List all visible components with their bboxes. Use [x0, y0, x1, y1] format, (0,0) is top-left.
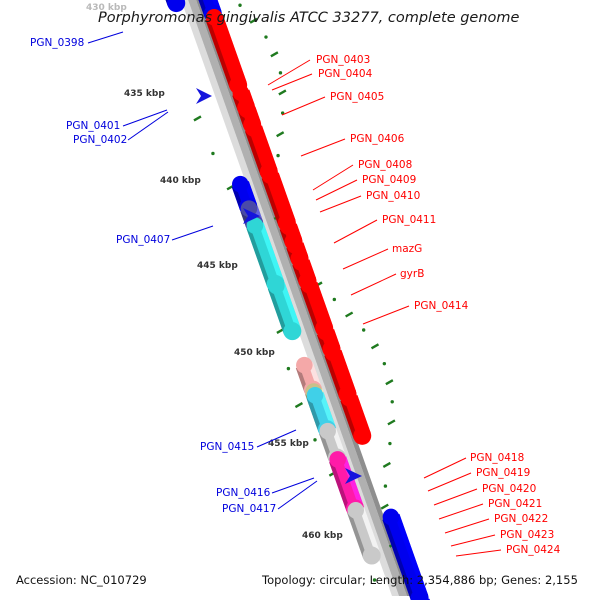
gene-cap	[293, 254, 310, 271]
leader-line	[128, 112, 168, 140]
gene-label-reverse[interactable]: PGN_0416	[216, 487, 271, 499]
strand-tick	[271, 52, 278, 56]
gene-label-forward[interactable]: PGN_0405	[330, 91, 384, 103]
leader-line	[343, 249, 388, 269]
gene-cap	[268, 278, 285, 295]
strand-tick-dot	[279, 71, 282, 74]
gene-label-forward[interactable]: PGN_0404	[318, 68, 373, 80]
gene-label-forward[interactable]: PGN_0409	[362, 174, 416, 186]
strand-tick-dot	[276, 154, 279, 157]
leader-line	[301, 139, 345, 156]
ruler-tick-label: 455 kbp	[268, 439, 309, 449]
gene-label-forward[interactable]: PGN_0424	[506, 544, 561, 556]
leader-line	[320, 196, 361, 212]
genome-backbone[interactable]	[179, 0, 412, 596]
ruler-tick-label: 445 kbp	[197, 261, 238, 271]
leader-line	[428, 473, 471, 491]
gene-label-forward[interactable]: PGN_0419	[476, 467, 530, 479]
strand-tick	[388, 420, 395, 424]
gene-cap	[307, 387, 324, 404]
gene-cap	[232, 176, 249, 193]
leader-line	[268, 60, 310, 85]
gene-cap	[245, 120, 262, 137]
strand-tick	[383, 463, 390, 467]
leader-line	[334, 220, 377, 243]
gene-cap	[301, 277, 318, 294]
gene-cap	[317, 324, 334, 341]
gene-cap	[353, 427, 371, 445]
strand-tick	[381, 505, 388, 509]
genome-map-viewport[interactable]: 430 kbp435 kbp440 kbp445 kbp450 kbp455 k…	[0, 0, 600, 600]
leader-line	[445, 519, 489, 533]
leader-line	[282, 97, 325, 115]
leader-line	[351, 274, 396, 295]
strand-tick-dot	[238, 4, 241, 7]
ruler-tick-label: 435 kbp	[124, 89, 165, 99]
gene-label-forward[interactable]: PGN_0406	[350, 133, 405, 145]
leader-line	[272, 74, 312, 90]
gene-label-reverse[interactable]: PGN_0417	[222, 503, 276, 515]
gene-cap	[383, 509, 400, 526]
gene-cap	[347, 502, 364, 519]
strand-tick	[279, 90, 286, 94]
strand-tick-dot	[287, 367, 290, 370]
gene-cap	[296, 357, 313, 374]
gene-label-reverse[interactable]: PGN_0415	[200, 441, 254, 453]
gene-label-forward[interactable]: PGN_0421	[488, 498, 542, 510]
gene-cap	[239, 101, 256, 118]
gene-cap	[329, 451, 346, 468]
gene-label-reverse[interactable]: PGN_0401	[66, 120, 120, 132]
direction-arrow-icon[interactable]	[196, 88, 212, 104]
gene-label-reverse[interactable]: PGN_0407	[116, 234, 170, 246]
strand-tick	[386, 380, 393, 384]
strand-tick-dot	[211, 152, 214, 155]
strand-tick-dot	[313, 438, 316, 441]
leader-line	[434, 489, 477, 505]
leader-line	[439, 504, 483, 519]
gene-label-forward[interactable]: PGN_0414	[414, 300, 469, 312]
gene-cap	[233, 84, 250, 101]
gene-cap	[283, 322, 301, 340]
strand-tick-dot	[383, 362, 386, 365]
gene-label-forward[interactable]: PGN_0420	[482, 483, 536, 495]
page-title: Porphyromonas gingivalis ATCC 33277, com…	[98, 10, 520, 26]
strand-tick-dot	[391, 400, 394, 403]
strand-tick-dot	[384, 484, 387, 487]
ruler-tick-label: 460 kbp	[302, 531, 343, 541]
leader-line	[424, 458, 466, 478]
gene-label-reverse[interactable]: PGN_0402	[73, 134, 127, 146]
gene-label-reverse[interactable]: PGN_0398	[30, 37, 84, 49]
gene-label-forward[interactable]: PGN_0422	[494, 513, 548, 525]
gene-label-forward[interactable]: gyrB	[400, 268, 424, 280]
strand-tick-dot	[362, 328, 365, 331]
leader-line	[278, 481, 317, 509]
gene-cap	[341, 390, 358, 407]
gene-label-forward[interactable]: mazG	[392, 243, 422, 255]
leader-line	[88, 32, 123, 43]
strand-tick	[277, 132, 284, 136]
gene-label-forward[interactable]: PGN_0418	[470, 452, 524, 464]
gene-cap	[325, 345, 342, 362]
strand-tick	[194, 116, 201, 120]
gene-label-forward[interactable]: PGN_0403	[316, 54, 370, 66]
leader-line	[123, 110, 167, 126]
strand-tick	[346, 313, 353, 317]
strand-tick-dot	[388, 442, 391, 445]
leader-line	[313, 165, 353, 190]
gene-label-forward[interactable]: PGN_0408	[358, 159, 412, 171]
accession-label: Accession: NC_010729	[16, 573, 147, 587]
leader-line	[451, 535, 495, 546]
gene-label-forward[interactable]: PGN_0410	[366, 190, 420, 202]
gene-cap	[363, 547, 381, 565]
gene-cap	[287, 237, 304, 254]
leader-line	[272, 478, 314, 493]
leader-line	[316, 180, 357, 200]
gene-cap	[319, 423, 336, 440]
gene-label-forward[interactable]: PGN_0411	[382, 214, 436, 226]
gene-cap	[280, 218, 297, 235]
ruler-tick-label: 440 kbp	[160, 176, 201, 186]
gene-label-forward[interactable]: PGN_0423	[500, 529, 554, 541]
leader-line	[363, 306, 409, 324]
ruler-tick-label: 450 kbp	[234, 348, 275, 358]
leader-line	[172, 226, 213, 240]
gene-cap	[262, 167, 279, 184]
strand-tick	[372, 344, 379, 348]
strand-tick-dot	[333, 298, 336, 301]
strand-tick	[295, 403, 302, 407]
leader-line	[456, 550, 501, 556]
genome-map-canvas[interactable]: 430 kbp435 kbp440 kbp445 kbp450 kbp455 k…	[0, 0, 600, 600]
genome-stats-label: Topology: circular; Length: 2,354,886 bp…	[261, 573, 578, 587]
strand-tick-dot	[264, 35, 267, 38]
